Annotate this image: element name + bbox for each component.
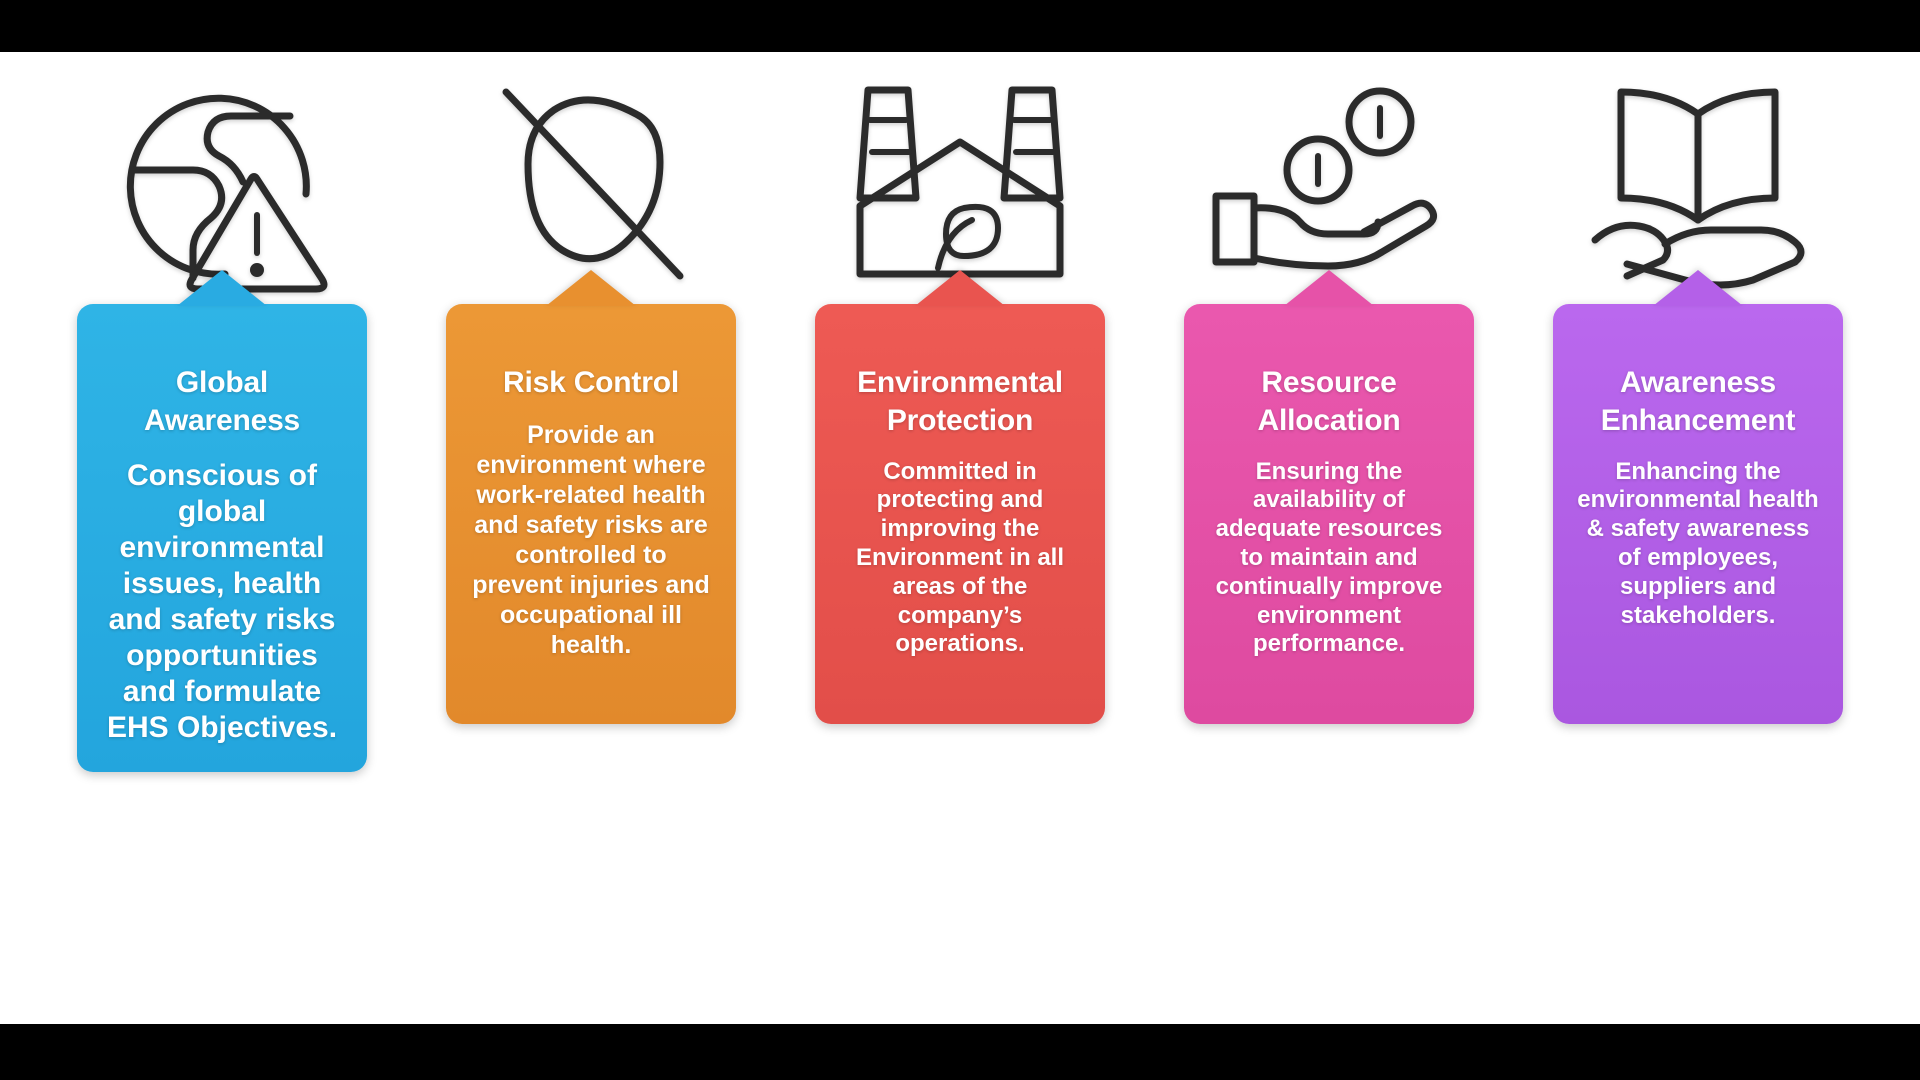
card-row: Global Awareness Conscious of global env… xyxy=(0,52,1920,1024)
card-title: Environmental Protection xyxy=(831,364,1089,440)
card-column-environmental-protection: Environmental Protection Committed in pr… xyxy=(795,60,1125,724)
card-awareness-enhancement[interactable]: Awareness Enhancement Enhancing the envi… xyxy=(1553,304,1843,724)
card-column-risk-control: Risk Control Provide an environment wher… xyxy=(426,60,756,724)
card-global-awareness[interactable]: Global Awareness Conscious of global env… xyxy=(77,304,367,772)
card-environmental-protection[interactable]: Environmental Protection Committed in pr… xyxy=(815,304,1105,724)
card-body: Ensuring the availability of adequate re… xyxy=(1200,458,1458,660)
letterbox-bar-top xyxy=(0,0,1920,52)
card-body: Provide an environment where work-relate… xyxy=(462,420,720,660)
card-column-resource-allocation: Resource Allocation Ensuring the availab… xyxy=(1164,60,1494,724)
card-title: Resource Allocation xyxy=(1200,364,1458,440)
infographic-stage: Global Awareness Conscious of global env… xyxy=(0,0,1920,1080)
card-title: Global Awareness xyxy=(93,364,351,440)
card-title: Risk Control xyxy=(501,364,681,402)
card-column-awareness-enhancement: Awareness Enhancement Enhancing the envi… xyxy=(1533,60,1863,724)
card-title: Awareness Enhancement xyxy=(1569,364,1827,440)
card-risk-control[interactable]: Risk Control Provide an environment wher… xyxy=(446,304,736,724)
card-body: Committed in protecting and improving th… xyxy=(831,458,1089,660)
card-column-global-awareness: Global Awareness Conscious of global env… xyxy=(57,60,387,772)
infographic-canvas: Global Awareness Conscious of global env… xyxy=(0,52,1920,1024)
card-body: Enhancing the environmental health & saf… xyxy=(1569,458,1827,631)
letterbox-bar-bottom xyxy=(0,1024,1920,1080)
card-body: Conscious of global environmental issues… xyxy=(93,458,351,746)
card-resource-allocation[interactable]: Resource Allocation Ensuring the availab… xyxy=(1184,304,1474,724)
